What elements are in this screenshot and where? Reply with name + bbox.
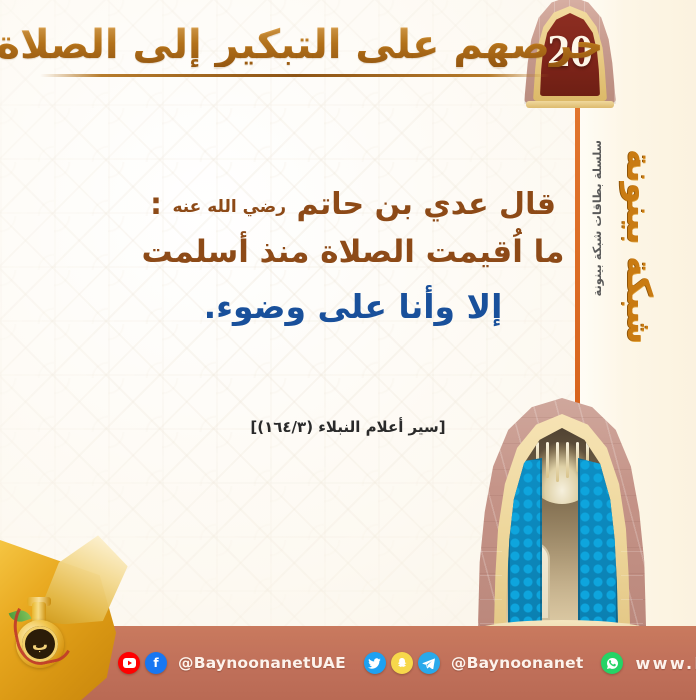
handle-uae[interactable]: @BaynoonanetUAE — [178, 654, 346, 672]
quote-colon: : — [150, 187, 162, 222]
quote-block: قال عدي بن حاتم رضي الله عنه : ما اُقيمت… — [70, 185, 636, 330]
quote-speaker: قال عدي بن حاتم — [296, 187, 556, 222]
youtube-icon[interactable] — [118, 652, 140, 674]
mosque-column-left — [480, 532, 502, 624]
social-group-uae: f @BaynoonanetUAE — [118, 652, 346, 674]
badge-base — [526, 101, 614, 108]
page-title-text: حرصهم على التبكير إلى الصلاة — [0, 23, 604, 67]
snapchat-icon[interactable] — [391, 652, 413, 674]
website-group: www.baynoona.net — [601, 652, 696, 674]
poster-card: شبكة بينونة سلسلة بطاقات شبكة بينونة 20 … — [0, 0, 696, 700]
whatsapp-icon[interactable] — [601, 652, 623, 674]
footer-bar: f @BaynoonanetUAE @Baynoonanet — [46, 626, 696, 700]
mosque-column-right — [621, 532, 643, 624]
handle-main[interactable]: @Baynoonanet — [451, 654, 584, 672]
twitter-icon[interactable] — [364, 652, 386, 674]
quote-line-3: إلا وأنا على وضوء. — [70, 285, 636, 330]
page-title: حرصهم على التبكير إلى الصلاة — [36, 14, 564, 76]
website-url[interactable]: www.baynoona.net — [635, 654, 696, 673]
mosque-doorway-illustration — [470, 394, 655, 642]
incense-burner-emblem-icon: ب — [12, 592, 68, 678]
title-underline — [40, 74, 550, 77]
emblem-glyph: ب — [22, 626, 58, 662]
facebook-icon[interactable]: f — [145, 652, 167, 674]
quote-honorific: رضي الله عنه — [172, 197, 286, 217]
quote-attribution-line: قال عدي بن حاتم رضي الله عنه : — [70, 185, 636, 226]
quote-line-2: ما اُقيمت الصلاة منذ أسلمت — [70, 232, 636, 274]
footer-content: f @BaynoonanetUAE @Baynoonanet — [46, 626, 696, 700]
social-group-main: @Baynoonanet — [364, 652, 584, 674]
telegram-icon[interactable] — [418, 652, 440, 674]
